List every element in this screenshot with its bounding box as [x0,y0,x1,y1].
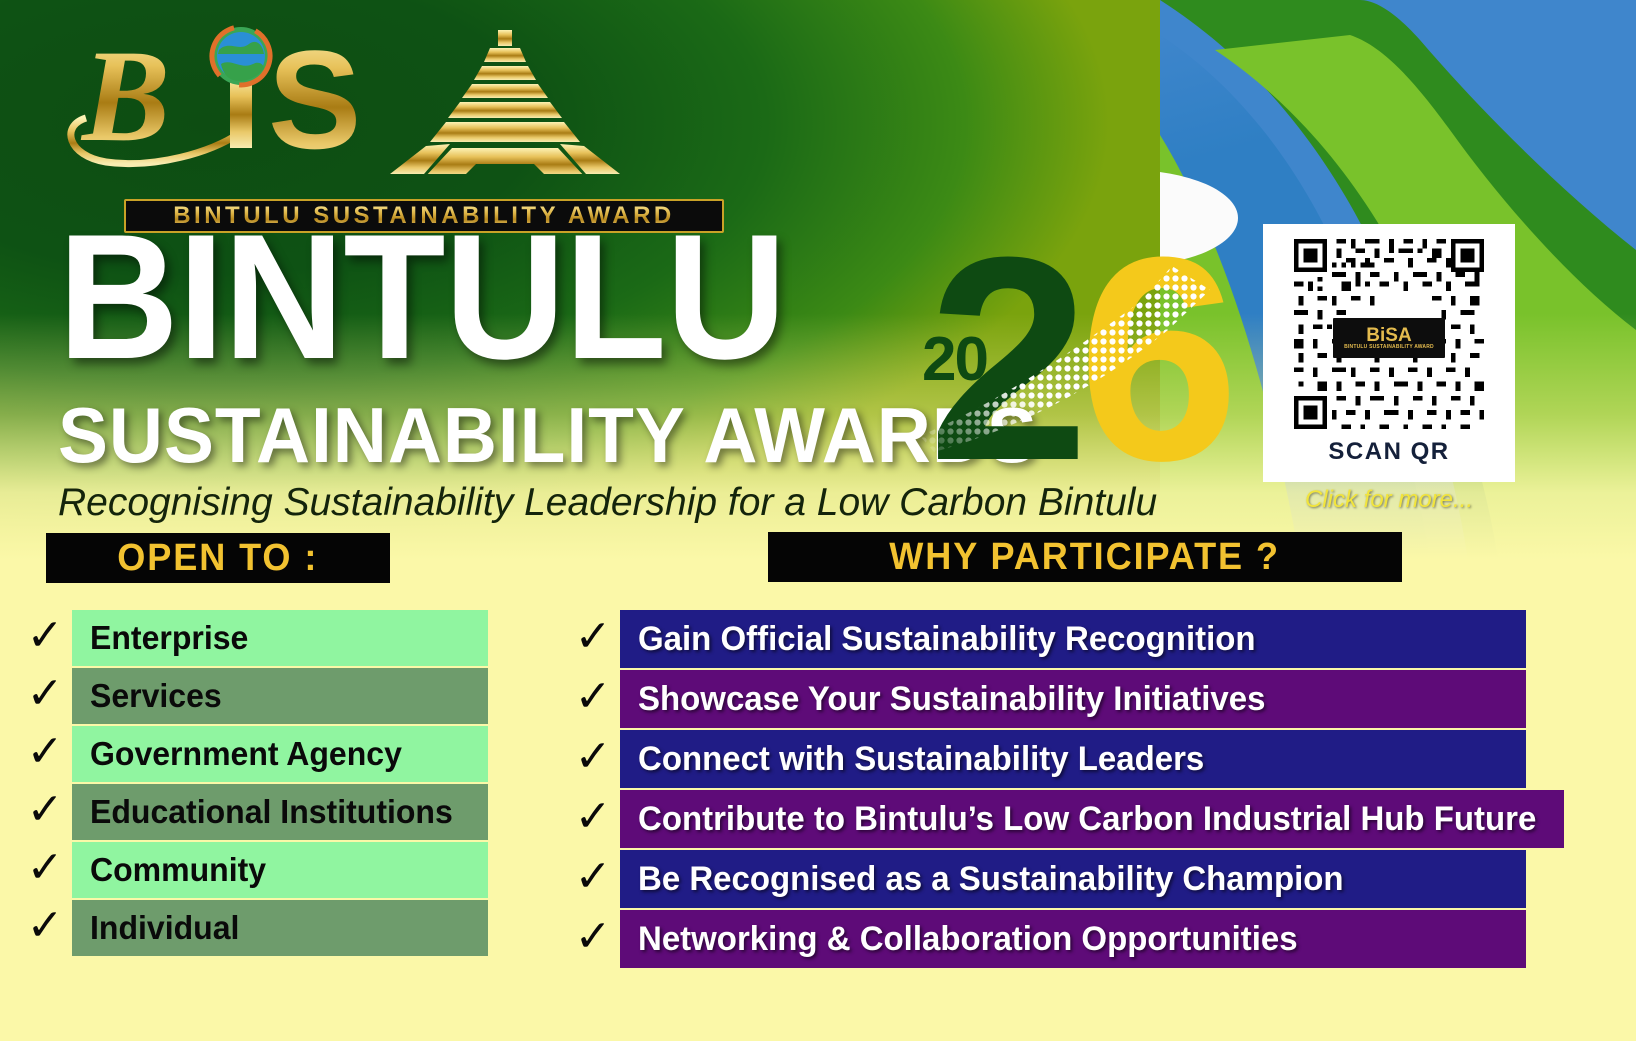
qr-embedded-logo-mark: BiSA [1366,327,1411,344]
open-to-item-1[interactable]: Services [72,668,488,724]
check-icon: ✓ [18,784,72,840]
list-item[interactable]: ✓ Enterprise [18,610,488,666]
qr-block[interactable]: BiSA BINTULU SUSTAINABILITY AWARD SCAN Q… [1263,224,1515,510]
check-icon: ✓ [566,670,620,728]
list-item[interactable]: ✓ Community [18,842,488,898]
open-to-item-5[interactable]: Individual [72,900,488,956]
why-item-5[interactable]: Networking & Collaboration Opportunities [620,910,1526,968]
check-icon: ✓ [18,610,72,666]
halftone-streak-icon [910,256,1230,456]
open-to-item-label: Government Agency [90,735,402,773]
list-item[interactable]: ✓ Connect with Sustainability Leaders [566,730,1526,788]
open-to-item-label: Community [90,851,266,889]
open-to-item-4[interactable]: Community [72,842,488,898]
why-item-label: Connect with Sustainability Leaders [638,740,1204,779]
check-icon: ✓ [18,900,72,956]
poster-canvas: B S [0,0,1636,1041]
why-item-label: Showcase Your Sustainability Initiatives [638,680,1265,719]
list-item[interactable]: ✓ Government Agency [18,726,488,782]
year-2026-graphic: 6 2 20 [900,236,1240,496]
why-item-2[interactable]: Connect with Sustainability Leaders [620,730,1526,788]
scan-qr-label: SCAN QR [1328,438,1449,466]
click-for-more-link[interactable]: Click for more... [1263,486,1515,514]
qr-embedded-logo: BiSA BINTULU SUSTAINABILITY AWARD [1333,318,1445,358]
why-item-4[interactable]: Be Recognised as a Sustainability Champi… [620,850,1526,908]
check-icon: ✓ [18,668,72,724]
why-item-0[interactable]: Gain Official Sustainability Recognition [620,610,1526,668]
open-to-item-0[interactable]: Enterprise [72,610,488,666]
list-item[interactable]: ✓ Services [18,668,488,724]
check-icon: ✓ [18,842,72,898]
list-item[interactable]: ✓ Networking & Collaboration Opportuniti… [566,910,1526,968]
why-participate-heading-bar: WHY PARTICIPATE ? [768,532,1402,582]
open-to-list: ✓ Enterprise ✓ Services ✓ Government Age… [18,610,488,958]
open-to-heading-bar: OPEN TO : [46,533,390,583]
why-item-3[interactable]: Contribute to Bintulu’s Low Carbon Indus… [620,790,1564,848]
open-to-heading-text: OPEN TO : [118,537,319,580]
qr-card[interactable]: BiSA BINTULU SUSTAINABILITY AWARD SCAN Q… [1263,224,1515,482]
why-item-1[interactable]: Showcase Your Sustainability Initiatives [620,670,1526,728]
why-participate-heading-text: WHY PARTICIPATE ? [890,536,1281,579]
list-item[interactable]: ✓ Showcase Your Sustainability Initiativ… [566,670,1526,728]
check-icon: ✓ [566,910,620,968]
qr-code-icon[interactable]: BiSA BINTULU SUSTAINABILITY AWARD [1281,234,1497,434]
qr-embedded-logo-caption: BINTULU SUSTAINABILITY AWARD [1344,344,1434,350]
check-icon: ✓ [566,610,620,668]
check-icon: ✓ [566,790,620,848]
list-item[interactable]: ✓ Individual [18,900,488,956]
list-item[interactable]: ✓ Educational Institutions [18,784,488,840]
bisa-wordmark-icon: B S [62,22,682,174]
list-item[interactable]: ✓ Be Recognised as a Sustainability Cham… [566,850,1526,908]
why-item-label: Networking & Collaboration Opportunities [638,920,1298,959]
check-icon: ✓ [566,730,620,788]
list-item[interactable]: ✓ Gain Official Sustainability Recogniti… [566,610,1526,668]
list-item[interactable]: ✓ Contribute to Bintulu’s Low Carbon Ind… [566,790,1526,848]
open-to-item-label: Educational Institutions [90,793,453,831]
svg-text:S: S [268,22,361,174]
open-to-item-label: Individual [90,909,239,947]
open-to-item-label: Services [90,677,222,715]
why-item-label: Gain Official Sustainability Recognition [638,620,1256,659]
check-icon: ✓ [18,726,72,782]
open-to-item-3[interactable]: Educational Institutions [72,784,488,840]
why-item-label: Be Recognised as a Sustainability Champi… [638,860,1344,899]
open-to-item-label: Enterprise [90,619,248,657]
open-to-item-2[interactable]: Government Agency [72,726,488,782]
why-participate-list: ✓ Gain Official Sustainability Recogniti… [566,610,1526,970]
bisa-logo[interactable]: B S [62,22,682,214]
check-icon: ✓ [566,850,620,908]
svg-text:B: B [80,22,170,169]
why-item-label: Contribute to Bintulu’s Low Carbon Indus… [638,800,1536,839]
